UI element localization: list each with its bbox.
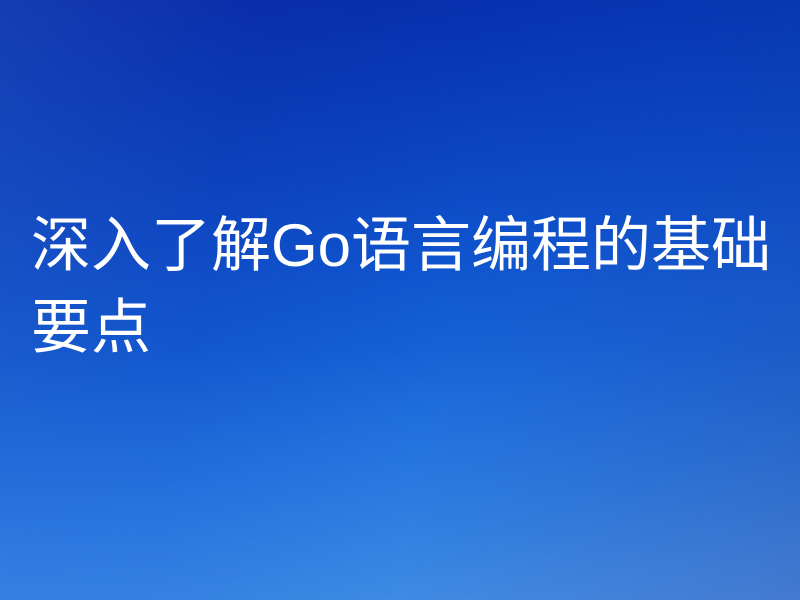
title-banner: 深入了解Go语言编程的基础要点 xyxy=(0,0,800,600)
page-title: 深入了解Go语言编程的基础要点 xyxy=(31,205,779,369)
title-block: 深入了解Go语言编程的基础要点 xyxy=(31,205,779,369)
